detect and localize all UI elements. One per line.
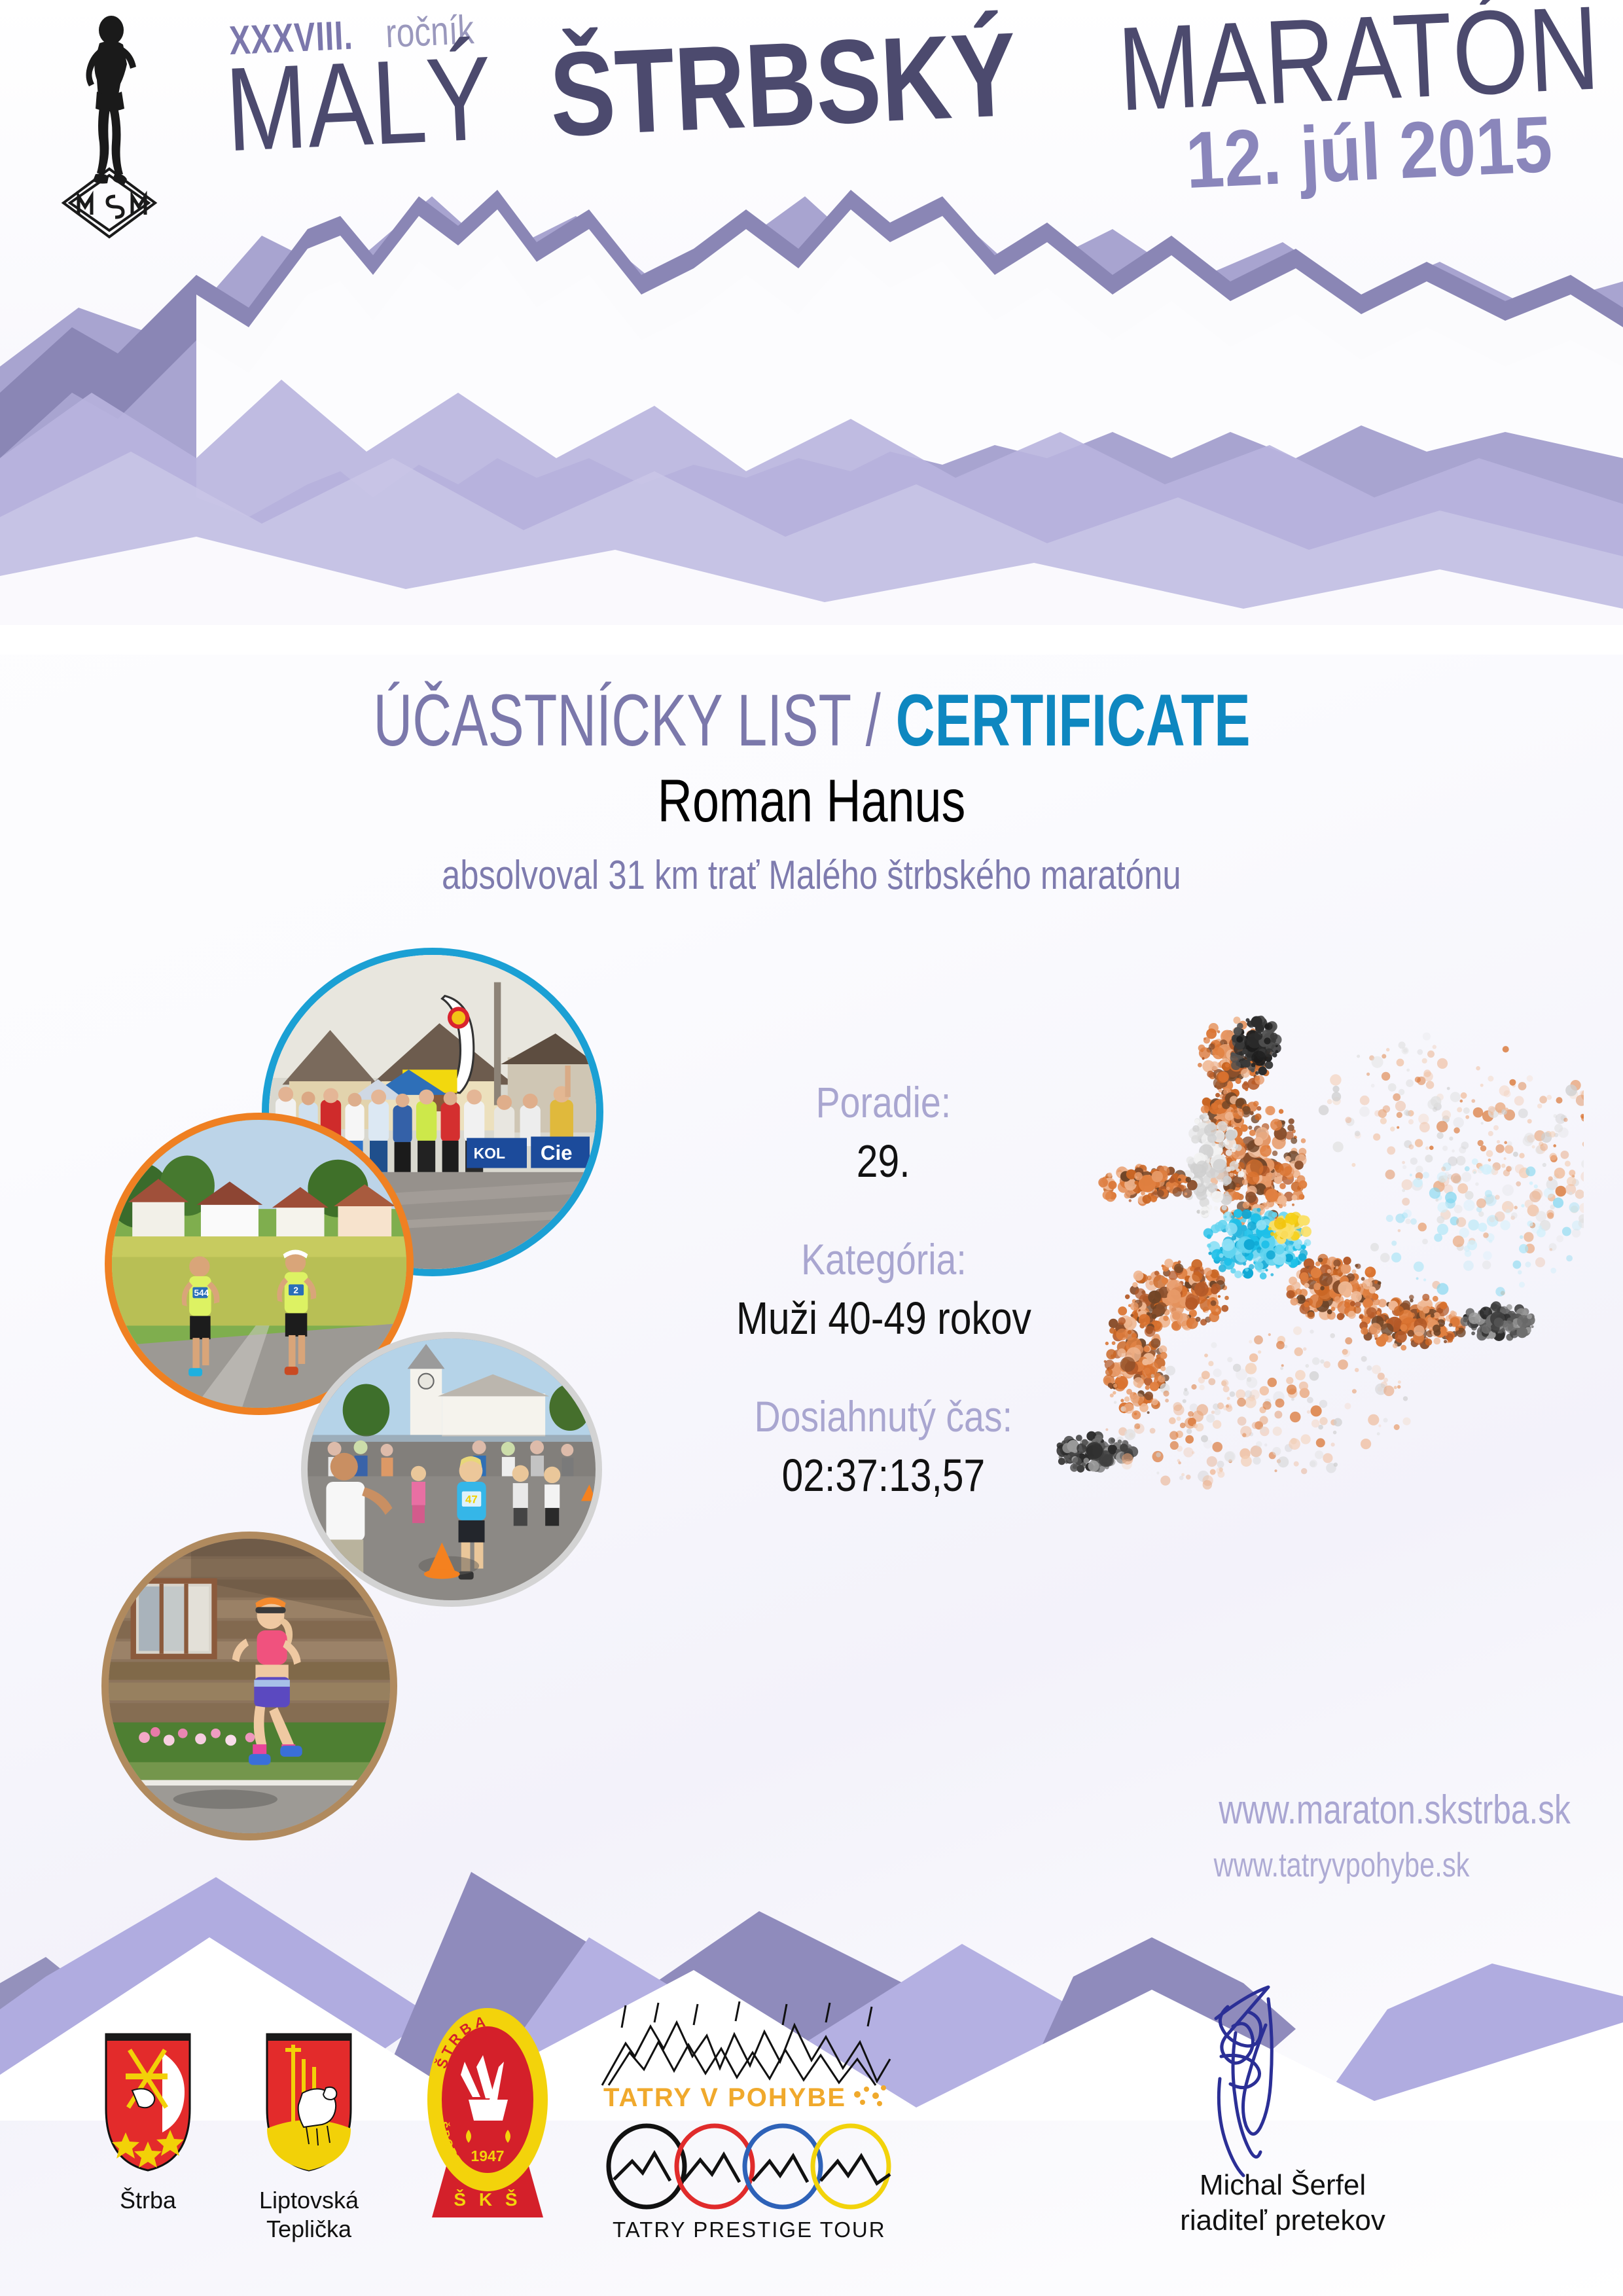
achievement-description: absolvoval 31 km trať Malého štrbského m…: [442, 852, 1181, 899]
tatry-prestige-tour-logo: TATRY PRESTIGE TOUR: [602, 2121, 910, 2251]
msm-letters: [79, 196, 145, 217]
svg-text:KOL: KOL: [474, 1145, 505, 1162]
strba-coat-of-arms: [102, 2030, 194, 2174]
liptovska-teplicka-coat-of-arms: [263, 2030, 355, 2174]
particle-runner-illustration: [982, 969, 1584, 1754]
secondary-website-url[interactable]: www.tatryvpohybe.sk: [1150, 1846, 1469, 1885]
athlete-name: Roman Hanus: [0, 767, 1623, 836]
sks-strba-club-logo: ŠTRBA ŠPORTOVÝ KLUB 1947 Š K Š: [412, 2001, 563, 2224]
woman-runner-photo: [101, 1532, 397, 1840]
svg-text:1947: 1947: [471, 2147, 504, 2164]
event-title-block: XXXVIII. ročník MALÝŠTRBSKÝMARATÓN 12. j…: [216, 0, 1613, 255]
tatry-v-pohybe-logo: TATRY V POHYBE: [596, 1996, 897, 2114]
athlete-name-text: Roman Hanus: [658, 767, 965, 836]
msm-logo: [47, 12, 171, 241]
event-date-text: 12. júl 2015: [1184, 98, 1554, 206]
msm-runner-icon: [86, 16, 137, 185]
heading-slovak: ÚČASTNÍCKY LIST: [373, 679, 865, 761]
svg-text:2: 2: [293, 1285, 298, 1295]
title-part-maly: MALÝ: [223, 32, 495, 175]
heading-english: CERTIFICATE: [895, 679, 1250, 761]
primary-website-url[interactable]: www.maraton.skstrba.sk: [1131, 1787, 1571, 1833]
achievement-text: absolvoval 31 km trať Malého štrbského m…: [0, 852, 1623, 899]
tatry-prestige-tour-caption: TATRY PRESTIGE TOUR: [613, 2217, 886, 2242]
liptovska-teplicka-caption: Liptovská Teplička: [243, 2186, 374, 2244]
svg-text:544: 544: [194, 1288, 209, 1298]
svg-text:47: 47: [465, 1494, 478, 1506]
svg-text:Cie: Cie: [541, 1141, 573, 1164]
signature-block: Michal Šerfel riaditeľ pretekov: [1126, 1977, 1440, 2265]
heading-separator: /: [865, 679, 895, 761]
strba-caption: Štrba: [82, 2186, 213, 2215]
svg-text:Š K Š: Š K Š: [454, 2189, 521, 2210]
handwritten-signature: [1126, 1977, 1440, 2193]
tatry-v-pohybe-caption: TATRY V POHYBE: [603, 2083, 846, 2112]
kids-race-photo: 47: [301, 1332, 602, 1607]
title-part-strbsky: ŠTRBSKÝ: [547, 9, 1019, 160]
sponsor-logos: Štrba Liptovská Teplička ŠTRBA ŠPORTOVÝ …: [79, 1990, 1027, 2265]
event-date: 12. júl 2015: [1184, 96, 1614, 206]
certificate-heading: ÚČASTNÍCKY LIST / CERTIFICATE: [0, 682, 1623, 759]
signatory-name: Michal Šerfel: [1126, 2168, 1440, 2203]
signatory-role: riaditeľ pretekov: [1126, 2203, 1440, 2238]
